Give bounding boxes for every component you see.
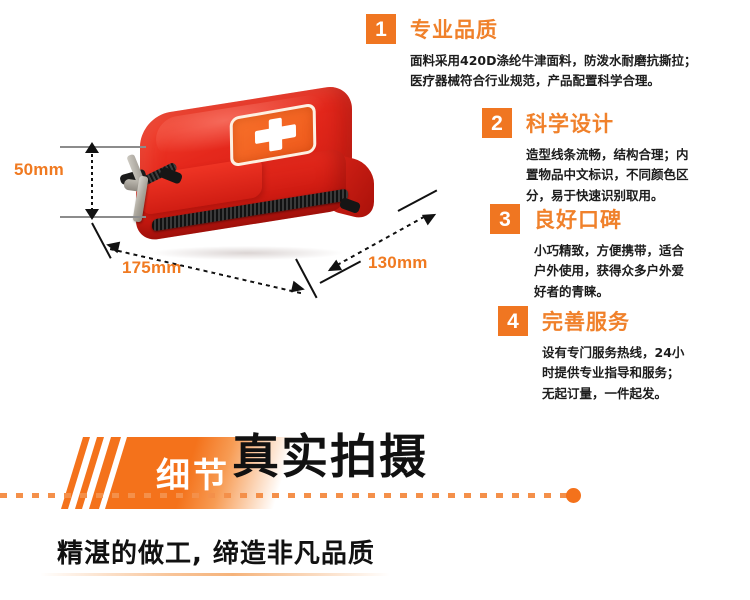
feature-4-description: 设有专门服务热线，24小 时提供专业指导和服务； 无起订量，一件起发。	[542, 343, 684, 404]
feature-list: 1 专业品质 面料采用420D涤纶牛津面料，防泼水耐磨抗撕拉； 医疗器械符合行业…	[0, 0, 750, 410]
feature-2-number-badge: 2	[482, 108, 512, 138]
feature-3-header: 3 良好口碑	[490, 204, 684, 234]
feature-1-title: 专业品质	[410, 14, 498, 44]
banner-subtitle-underline	[40, 573, 390, 576]
feature-4-header: 4 完善服务	[498, 306, 684, 336]
banner-subtitle: 精湛的做工, 缔造非凡品质	[57, 533, 375, 570]
detail-banner: 细节 真实拍摄 精湛的做工, 缔造非凡品质	[0, 415, 750, 600]
feature-4-title: 完善服务	[542, 306, 630, 336]
feature-1-number-badge: 1	[366, 14, 396, 44]
product-detail-page: 50mm 175mm 130mm 1 专业品质 面料采用420D涤纶牛津面料，防…	[0, 0, 750, 600]
banner-title: 真实拍摄	[232, 434, 428, 481]
feature-2-description: 造型线条流畅，结构合理；内 置物品中文标识，不同颜色区 分，易于快速识别取用。	[526, 145, 689, 206]
feature-2-header: 2 科学设计	[482, 108, 689, 138]
feature-3-number-badge: 3	[490, 204, 520, 234]
feature-4-number-badge: 4	[498, 306, 528, 336]
feature-3-description: 小巧精致，方便携带，适合 户外使用，获得众多户外爱 好者的青睐。	[534, 241, 684, 302]
banner-divider-end-dot-icon	[566, 488, 581, 503]
feature-3-title: 良好口碑	[534, 204, 622, 234]
feature-item-3: 3 良好口碑 小巧精致，方便携带，适合 户外使用，获得众多户外爱 好者的青睐。	[490, 204, 684, 302]
feature-2-title: 科学设计	[526, 108, 614, 138]
feature-1-description: 面料采用420D涤纶牛津面料，防泼水耐磨抗撕拉； 医疗器械符合行业规范，产品配置…	[410, 51, 696, 92]
feature-1-header: 1 专业品质	[366, 14, 696, 44]
feature-item-2: 2 科学设计 造型线条流畅，结构合理；内 置物品中文标识，不同颜色区 分，易于快…	[482, 108, 689, 206]
banner-dotted-divider	[0, 493, 572, 498]
feature-item-4: 4 完善服务 设有专门服务热线，24小 时提供专业指导和服务； 无起订量，一件起…	[498, 306, 684, 404]
feature-item-1: 1 专业品质 面料采用420D涤纶牛津面料，防泼水耐磨抗撕拉； 医疗器械符合行业…	[366, 14, 696, 92]
